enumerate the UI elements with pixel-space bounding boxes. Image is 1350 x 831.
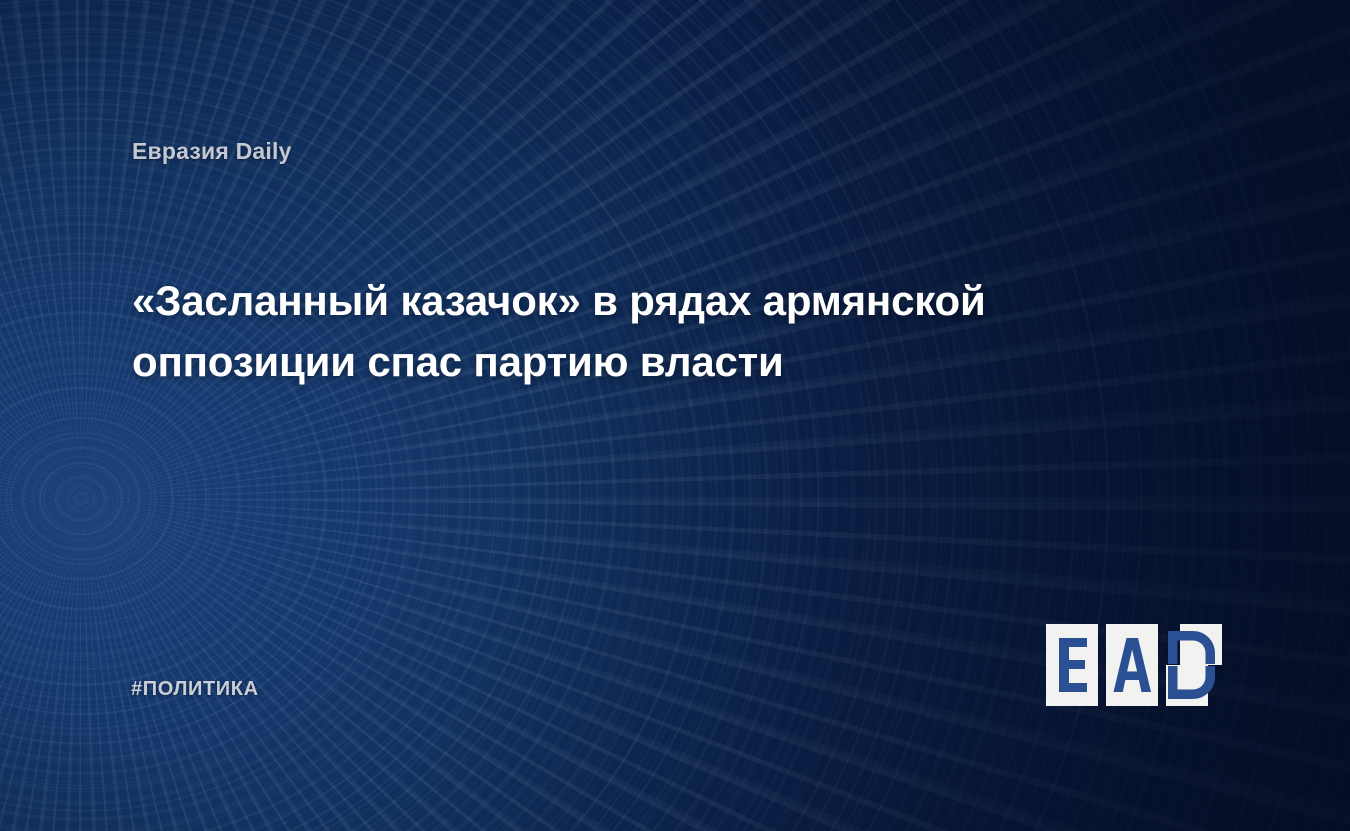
eadaily-logo-mark xyxy=(1046,624,1222,708)
page-title: «Засланный казачок» в рядах армянской оп… xyxy=(132,270,1092,392)
category-tag[interactable]: #ПОЛИТИКА xyxy=(131,678,259,701)
logo-tile-d-top xyxy=(1180,624,1222,665)
article-share-card: Евразия Daily «Засланный казачок» в ряда… xyxy=(0,0,1350,831)
eadaily-logo[interactable] xyxy=(1046,624,1222,708)
logo-tile-a xyxy=(1106,624,1158,706)
logo-letter-e xyxy=(1059,638,1087,692)
card-content: Евразия Daily «Засланный казачок» в ряда… xyxy=(0,0,1350,831)
brand-name: Евразия Daily xyxy=(132,138,292,165)
